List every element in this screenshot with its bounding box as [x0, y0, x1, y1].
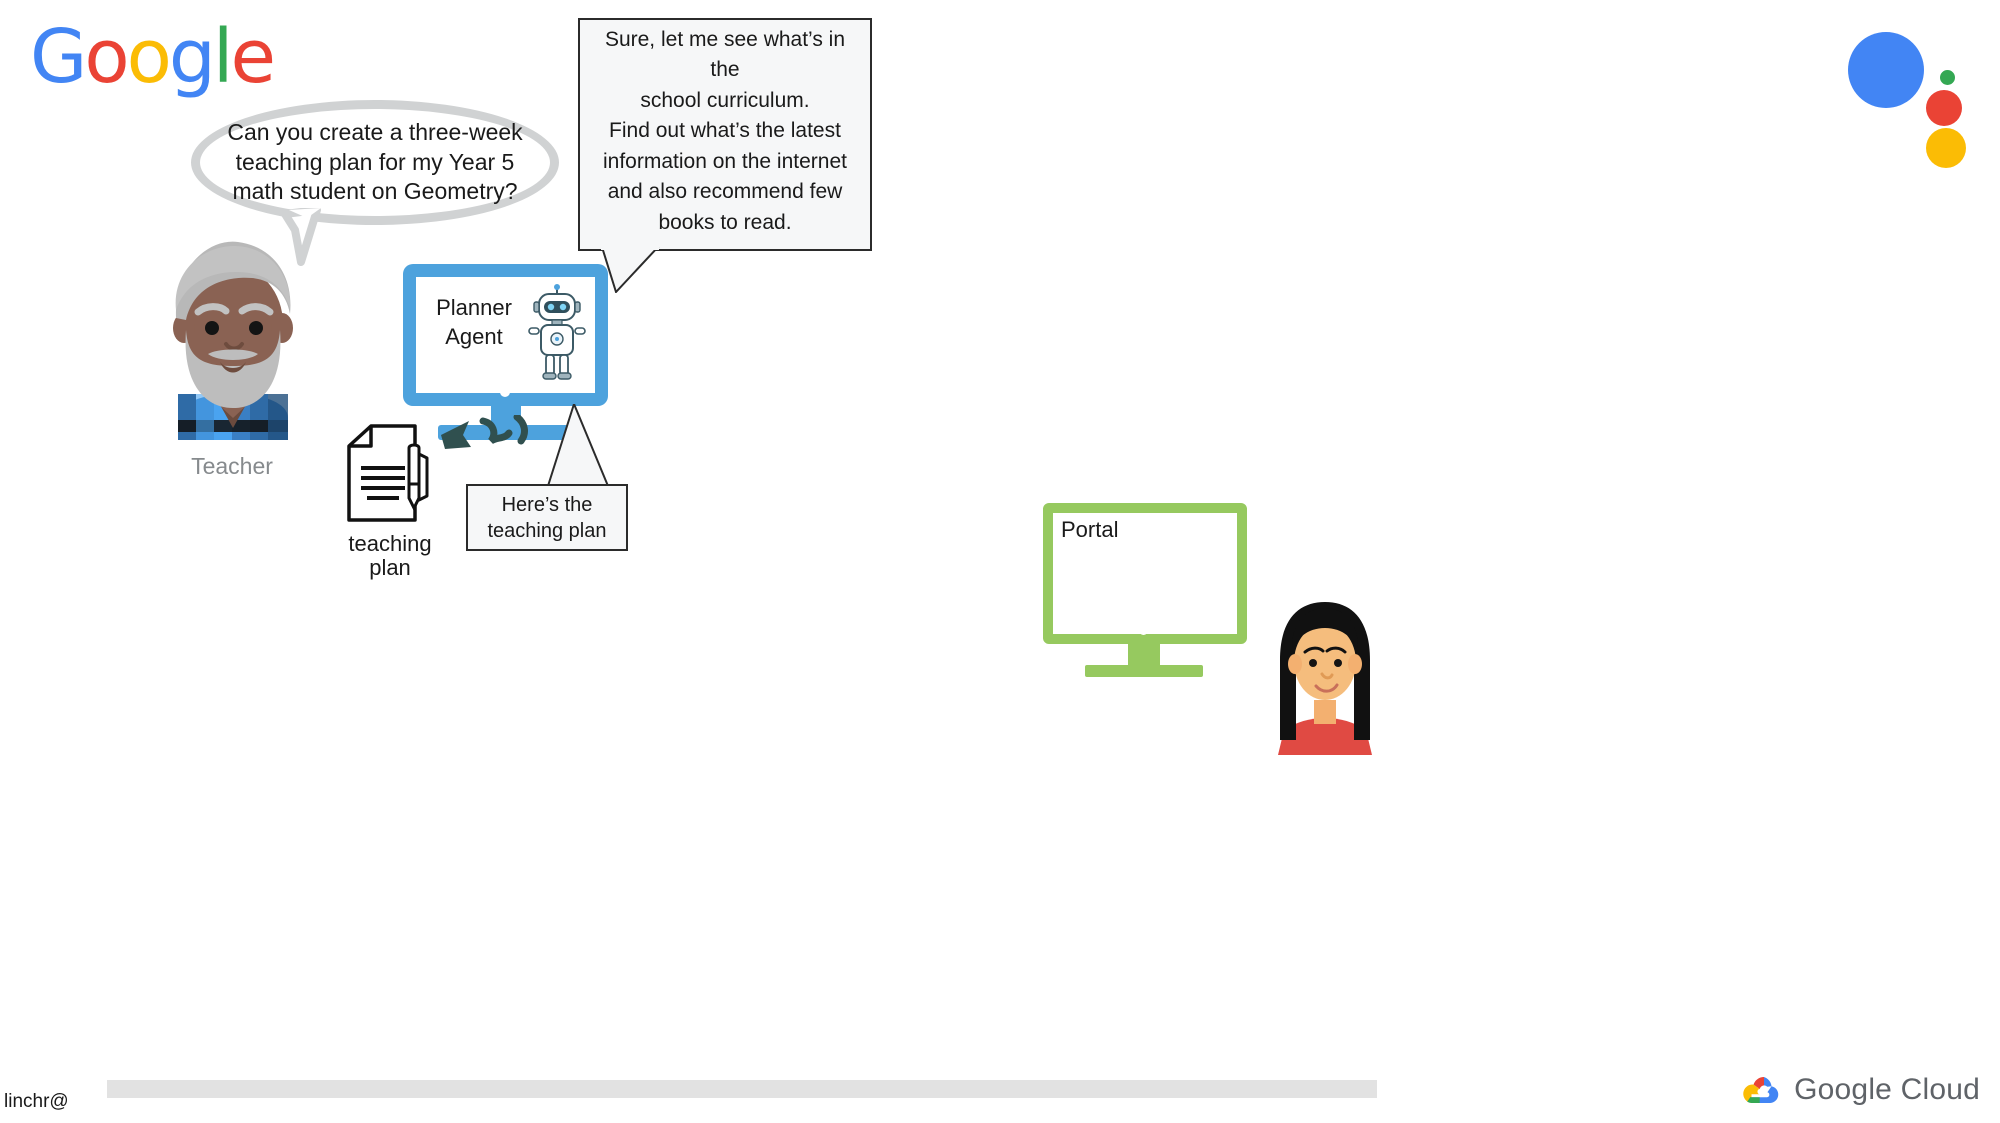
- google-logo-letter-o1: o: [84, 20, 126, 94]
- google-cloud-lockup: Google Cloud: [1738, 1072, 1980, 1108]
- google-logo: Google: [30, 20, 273, 94]
- google-cloud-wordmark: Google Cloud: [1794, 1073, 1980, 1107]
- google-logo-letter-o2: o: [127, 20, 169, 94]
- agent-speech-bubble: Sure, let me see what’s in the school cu…: [578, 18, 872, 251]
- plan-bubble-tail-icon: [540, 404, 610, 488]
- teacher-label: Teacher: [152, 453, 312, 480]
- footer-progress-bar: [107, 1080, 1377, 1098]
- student-avatar: [1270, 600, 1380, 755]
- author-handle: linchr@: [4, 1091, 69, 1113]
- portal-label: Portal: [1061, 517, 1118, 543]
- google-logo-letter-g2: g: [169, 20, 213, 94]
- teaching-plan-document-icon: [345, 424, 437, 524]
- portal-monitor-base: [1085, 665, 1203, 677]
- assistant-dot-blue-icon: [1848, 32, 1924, 108]
- plan-bubble-text: Here’s the teaching plan: [468, 486, 626, 549]
- teaching-plan-label: teaching plan: [330, 532, 450, 580]
- assistant-dot-red-icon: [1926, 90, 1962, 126]
- assistant-dot-yellow-icon: [1926, 128, 1966, 168]
- google-logo-letter-l: l: [213, 20, 231, 94]
- robot-icon: [521, 284, 593, 382]
- google-cloud-word-google: Google: [1794, 1073, 1892, 1106]
- agent-bubble-text: Sure, let me see what’s in the school cu…: [580, 20, 870, 249]
- google-logo-letter-g1: G: [30, 20, 84, 94]
- teacher-avatar: [160, 232, 306, 440]
- google-logo-letter-e: e: [230, 20, 273, 94]
- agent-bubble-tail-icon: [600, 247, 660, 293]
- portal-monitor-neck: [1128, 642, 1160, 666]
- plan-speech-bubble: Here’s the teaching plan: [466, 484, 628, 551]
- portal-monitor-power-dot-icon: [1139, 626, 1148, 635]
- planner-agent-label: Planner Agent: [419, 294, 529, 351]
- portal-monitor: Portal: [1043, 503, 1247, 678]
- teacher-bubble-text: Can you create a three-week teaching pla…: [191, 100, 559, 225]
- teacher-speech-bubble: Can you create a three-week teaching pla…: [191, 100, 559, 225]
- arrow-doodles-icon: [435, 415, 545, 475]
- assistant-dot-green-icon: [1940, 70, 1955, 85]
- google-cloud-word-cloud: Cloud: [1892, 1073, 1980, 1106]
- google-cloud-logo-icon: [1738, 1072, 1782, 1108]
- google-assistant-dots-icon: [1848, 18, 1968, 128]
- slide-canvas: Google Can you create a three-week teach…: [0, 0, 2000, 1123]
- planner-monitor-power-dot-icon: [500, 387, 510, 397]
